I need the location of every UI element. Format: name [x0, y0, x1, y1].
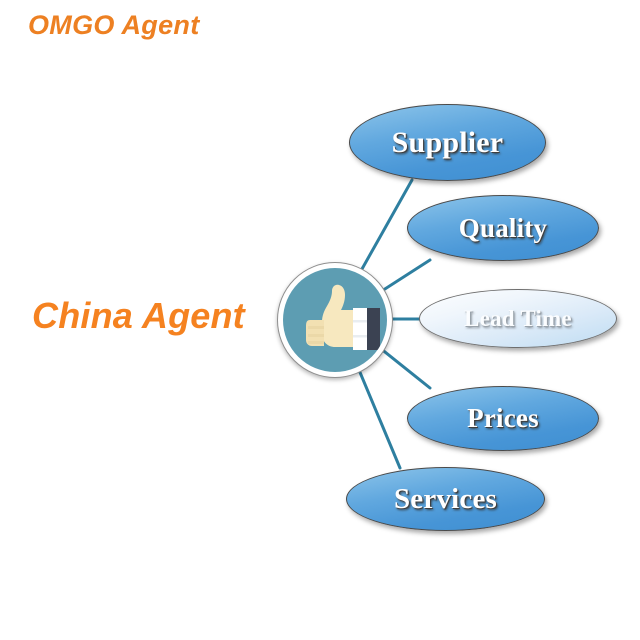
page-title: China Agent — [32, 295, 245, 337]
node-prices-label: Prices — [467, 403, 539, 434]
node-supplier[interactable]: Supplier — [349, 104, 546, 181]
node-quality-label: Quality — [459, 213, 547, 244]
thumbs-up-icon — [283, 268, 387, 372]
connector-hub-services — [354, 358, 400, 468]
node-services[interactable]: Services — [346, 467, 545, 531]
diagram-canvas: OMGO Agent China Agent — [0, 0, 640, 640]
hub-circle-fill — [283, 268, 387, 372]
node-services-label: Services — [394, 483, 497, 516]
node-quality[interactable]: Quality — [407, 195, 599, 261]
node-supplier-label: Supplier — [392, 126, 504, 160]
hub-circle[interactable] — [277, 262, 393, 378]
node-lead-time-label: Lead Time — [464, 306, 572, 332]
node-prices[interactable]: Prices — [407, 386, 599, 451]
node-lead-time[interactable]: Lead Time — [419, 289, 617, 348]
brand-title: OMGO Agent — [28, 10, 200, 41]
